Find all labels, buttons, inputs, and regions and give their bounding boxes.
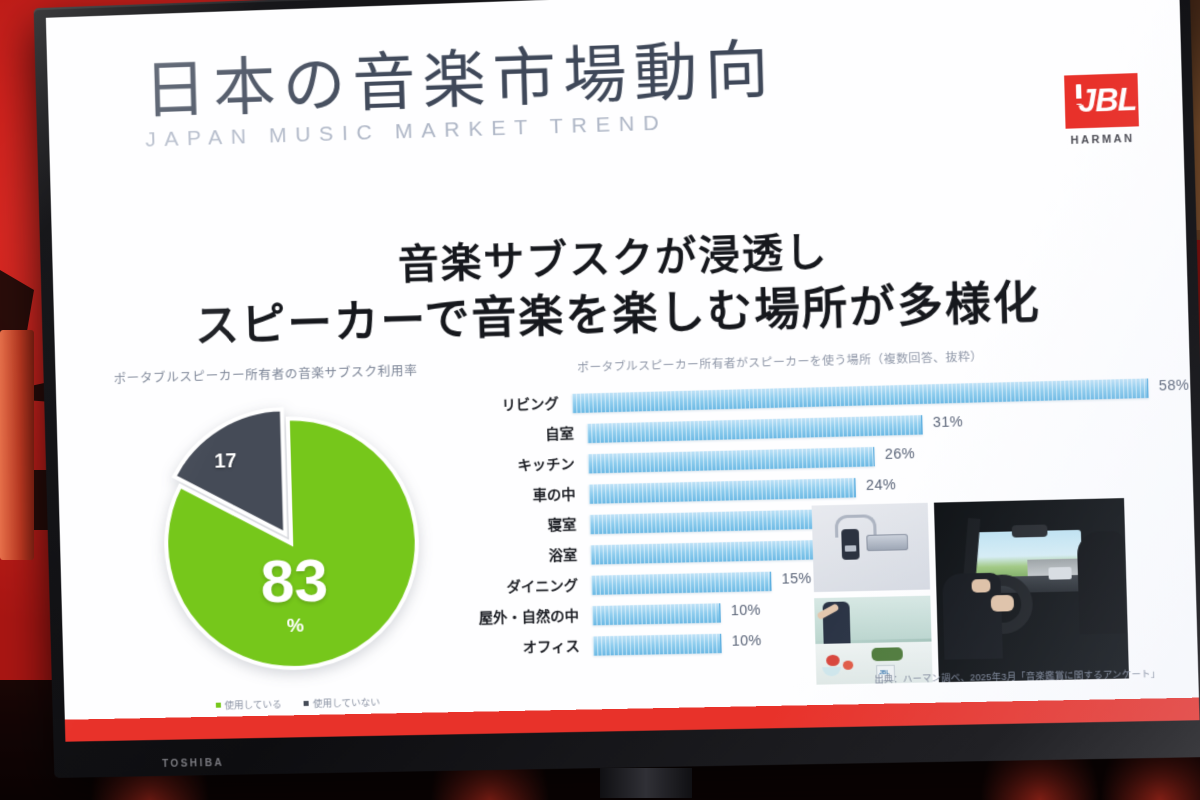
car-jbl-speaker [1048,567,1071,580]
bar-value-label: 58% [1158,376,1189,393]
car-driver-hand-left [971,579,990,593]
car-passenger-head [1077,531,1126,634]
stand-post-left [0,330,34,560]
bar-category-label: 寝室 [461,514,590,537]
bar-value-label: 10% [731,601,762,618]
bar-fill [592,603,721,625]
bar-value-label: 26% [885,444,916,461]
bar-fill [590,540,819,565]
bar-category-label: ダイニング [462,575,591,598]
harman-logo-text: HARMAN [1066,132,1140,147]
bar-value-label: 10% [731,631,762,648]
pie-legend-swatch-1 [215,703,220,708]
pie-slice-label-minor: 17 [214,450,237,474]
bar-value-label: 31% [933,413,964,430]
pie-center-value: 83 [142,548,447,615]
bar-fill [589,478,856,504]
jbl-exclamation-icon [1076,84,1082,105]
tv-screen: 日本の音楽市場動向 JAPAN MUSIC MARKET TREND JBL H… [46,0,1200,742]
pie-legend-item-1: 使用している [215,696,282,711]
bar-category-label: 車の中 [460,484,589,507]
pie-legend-label-2: 使用していない [313,697,380,709]
bar-category-label: 屋外・自然の中 [463,605,592,628]
bar-category-label: リビング [458,393,573,416]
car-rearview-mirror [1012,524,1048,537]
tv-brand-label: TOSHIBA [162,758,224,770]
pie-legend-label-1: 使用している [224,699,281,711]
television: TOSHIBA 日本の音楽市場動向 JAPAN MUSIC MARKET TRE… [34,0,1200,778]
pie-legend-item-2: 使用していない [304,694,381,710]
pie-legend-swatch-2 [304,701,309,706]
photo-column-left [812,503,933,685]
pie-chart-svg [138,388,449,685]
photo-car-interior-driving [934,498,1129,682]
presentation-slide: 日本の音楽市場動向 JAPAN MUSIC MARKET TREND JBL H… [46,0,1200,742]
slide-header: 日本の音楽市場動向 JAPAN MUSIC MARKET TREND [143,38,777,153]
tv-bezel: TOSHIBA 日本の音楽市場動向 JAPAN MUSIC MARKET TRE… [34,0,1200,778]
bar-category-label: オフィス [464,635,593,658]
tv-stand-neck [600,768,692,798]
bar-category-label: キッチン [459,453,588,476]
bar-fill [593,633,722,655]
bar-chart-caption: ポータブルスピーカー所有者がスピーカーを使う場所（複数回答、抜粋） [457,344,1148,379]
bar-value-label: 24% [866,476,897,493]
pie-chart-panel: ポータブルスピーカー所有者の音楽サブスク利用率 17 83 % 使用している使用… [107,358,480,713]
speaker-bar-icon [866,534,908,551]
pie-chart-legend: 使用している使用していない [116,692,480,713]
kitchen-greens [871,647,902,661]
bar-fill [591,571,771,594]
jbl-logo-mark: JBL [1064,73,1139,129]
bar-value-label: 15% [781,569,812,586]
slide-headline: 音楽サブスクが浸透し スピーカーで音楽を楽しむ場所が多様化 [52,215,1189,360]
bar-fill [588,446,875,472]
bar-fill [589,509,832,534]
bar-fill [587,415,923,443]
speaker-small-icon [841,529,859,560]
car-driver-hand-right [991,595,1014,612]
bar-chart-panel: ポータブルスピーカー所有者がスピーカーを使う場所（複数回答、抜粋） リビング58… [457,344,1156,664]
jbl-logo: JBL HARMAN [1064,73,1139,147]
bar-category-label: 自室 [458,423,587,447]
photo-collage [812,498,1129,685]
bar-category-label: 浴室 [462,544,591,567]
pie-chart: 17 83 % [138,388,449,685]
pie-chart-caption: ポータブルスピーカー所有者の音楽サブスク利用率 [107,358,471,387]
photo-jbl-portable-speakers [812,503,931,592]
